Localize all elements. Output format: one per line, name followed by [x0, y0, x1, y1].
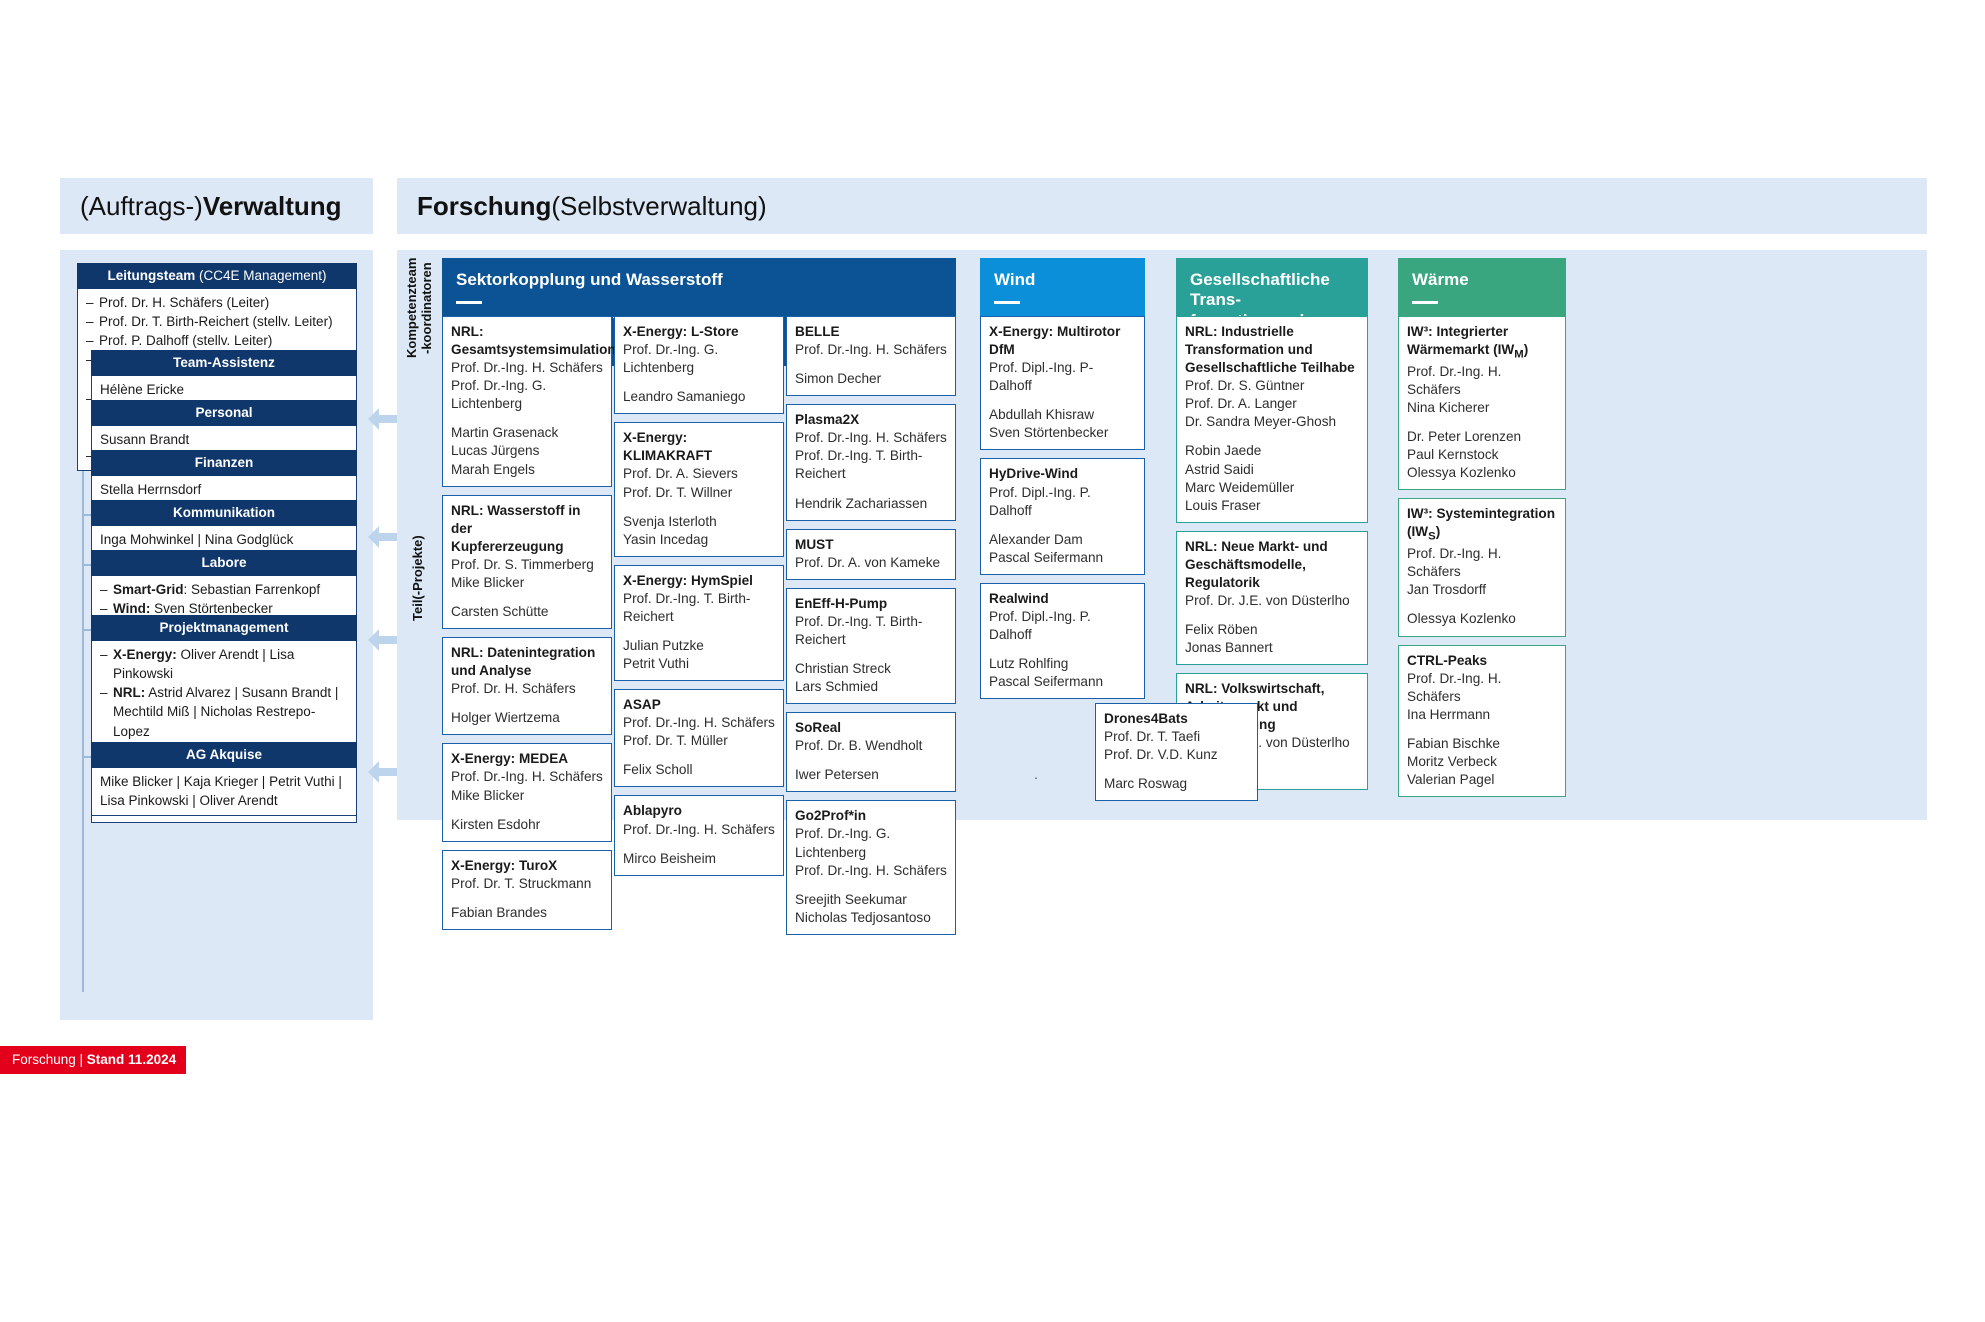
project-name: Drones4Bats [1104, 710, 1249, 728]
project-name: IW³: Integrierter [1407, 323, 1557, 341]
admin-unit-header: Projektmanagement [91, 615, 357, 641]
project-staff: Hendrik Zachariassen [795, 495, 947, 513]
project-box[interactable]: X-Energy: KLIMAKRAFTProf. Dr. A. Sievers… [614, 422, 784, 556]
admin-section-title: (Auftrags-)Verwaltung [60, 178, 373, 234]
project-column-waerme: IW³: IntegrierterWärmemarkt (IWM)Prof. D… [1398, 316, 1566, 805]
project-staff: Iwer Petersen [795, 766, 947, 784]
project-box[interactable]: NRL:GesamtsystemsimulationProf. Dr.-Ing.… [442, 316, 612, 487]
project-lead: Prof. Dr.-Ing. H. Schäfers [795, 429, 947, 447]
project-box[interactable]: X-Energy: MEDEAProf. Dr.-Ing. H. Schäfer… [442, 743, 612, 841]
project-name: Realwind [989, 590, 1136, 608]
project-name-line2: (IWS) [1407, 523, 1557, 545]
project-name: CTRL-Peaks [1407, 652, 1557, 670]
status-prefix: Forschung | [12, 1052, 87, 1067]
project-box[interactable]: Drones4BatsProf. Dr. T. TaefiProf. Dr. V… [1095, 703, 1258, 801]
project-lead: Prof. Dr. T. Struckmann [451, 875, 603, 893]
project-spacer [1185, 610, 1359, 621]
project-box[interactable]: Plasma2XProf. Dr.-Ing. H. SchäfersProf. … [786, 404, 956, 520]
project-staff: Louis Fraser [1185, 497, 1359, 515]
project-staff: Leandro Samaniego [623, 388, 775, 406]
project-spacer [989, 395, 1136, 406]
project-spacer [795, 755, 947, 766]
project-name: NRL: [451, 323, 603, 341]
admin-unit[interactable]: FinanzenStella Herrnsdorf [91, 450, 357, 505]
admin-title-bold: Verwaltung [203, 191, 342, 222]
project-staff: Fabian Brandes [451, 904, 603, 922]
admin-title-prefix: (Auftrags-) [80, 191, 203, 222]
project-staff: Valerian Pagel [1407, 771, 1557, 789]
status-badge: Forschung | Stand 11.2024 [0, 1046, 186, 1074]
project-staff: Astrid Saidi [1185, 461, 1359, 479]
label-kompetenzteam-koordinatoren: Kompetenzteam -koordinatoren [405, 258, 439, 358]
project-box[interactable]: IW³: IntegrierterWärmemarkt (IWM)Prof. D… [1398, 316, 1566, 490]
project-lead: Prof. Dr. B. Wendholt [795, 737, 947, 755]
project-lead: Prof. Dr. V.D. Kunz [1104, 746, 1249, 764]
project-name-line2: Gesamtsystemsimulation [451, 341, 603, 359]
project-lead: Prof. Dr.-Ing. H. Schäfers [623, 714, 775, 732]
project-name: Go2Prof*in [795, 807, 947, 825]
project-lead: Dr. Sandra Meyer-Ghosh [1185, 413, 1359, 431]
project-lead: Prof. Dr.-Ing. T. Birth- [795, 447, 947, 465]
project-name: X-Energy: MEDEA [451, 750, 603, 768]
admin-unit-line: Lisa Pinkowski | Oliver Arendt [100, 791, 348, 810]
project-name: BELLE [795, 323, 947, 341]
project-staff: Pascal Seifermann [989, 673, 1136, 691]
project-staff: Simon Decher [795, 370, 947, 388]
cluster-title: Wärme [1412, 270, 1552, 290]
admin-unit-header: Finanzen [91, 450, 357, 476]
project-spacer [1407, 599, 1557, 610]
project-staff: Lars Schmied [795, 678, 947, 696]
project-lead: Mike Blicker [451, 787, 603, 805]
project-box[interactable]: NRL: IndustrielleTransformation undGesel… [1176, 316, 1368, 523]
cluster-title: Wind [994, 270, 1131, 290]
project-lead: Jan Trosdorff [1407, 581, 1557, 599]
project-lead: Prof. Dr. A. von Kameke [795, 554, 947, 572]
project-staff: Sven Störtenbecker [989, 424, 1136, 442]
project-name-line2: Transformation und [1185, 341, 1359, 359]
project-column-2: X-Energy: L-StoreProf. Dr.-Ing. G. Licht… [614, 316, 784, 884]
project-staff: Dr. Peter Lorenzen [1407, 428, 1557, 446]
project-spacer [623, 502, 775, 513]
project-staff: Felix Röben [1185, 621, 1359, 639]
project-box[interactable]: X-Energy: Multirotor DfMProf. Dipl.-Ing.… [980, 316, 1145, 450]
project-column-drones: Drones4BatsProf. Dr. T. TaefiProf. Dr. V… [1095, 703, 1258, 809]
project-lead: Prof. Dr.-Ing. T. Birth- [623, 590, 775, 608]
project-lead: Prof. Dr.-Ing. H. Schäfers [451, 359, 603, 377]
project-box[interactable]: EnEff-H-PumpProf. Dr.-Ing. T. Birth-Reic… [786, 588, 956, 704]
project-box[interactable]: RealwindProf. Dipl.-Ing. P. DalhoffLutz … [980, 583, 1145, 699]
project-name: NRL: Wasserstoff in der [451, 502, 603, 538]
admin-unit[interactable]: Team-AssistenzHélène Ericke [91, 350, 357, 405]
project-name-line2: Geschäftsmodelle, Regulatorik [1185, 556, 1359, 592]
admin-unit[interactable]: PersonalSusann Brandt [91, 400, 357, 455]
project-name: SoReal [795, 719, 947, 737]
project-spacer [623, 377, 775, 388]
project-name-line2: Kupfererzeugung [451, 538, 603, 556]
project-spacer [795, 649, 947, 660]
project-box[interactable]: NRL: Datenintegrationund AnalyseProf. Dr… [442, 637, 612, 735]
project-lead: Nina Kicherer [1407, 399, 1557, 417]
project-spacer [623, 839, 775, 850]
admin-unit-line: Stella Herrnsdorf [100, 480, 348, 499]
admin-unit-header: Kommunikation [91, 500, 357, 526]
project-spacer [795, 359, 947, 370]
project-spacer [623, 626, 775, 637]
project-column-wind: X-Energy: Multirotor DfMProf. Dipl.-Ing.… [980, 316, 1145, 707]
project-name: HyDrive-Wind [989, 465, 1136, 483]
project-box[interactable]: ASAPProf. Dr.-Ing. H. SchäfersProf. Dr. … [614, 689, 784, 787]
project-box[interactable]: BELLEProf. Dr.-Ing. H. SchäfersSimon Dec… [786, 316, 956, 396]
project-staff: Lucas Jürgens [451, 442, 603, 460]
project-name-line3: Gesellschaftliche Teilhabe [1185, 359, 1359, 377]
project-lead: Prof. Dr. S. Güntner [1185, 377, 1359, 395]
project-name: X-Energy: KLIMAKRAFT [623, 429, 775, 465]
project-box[interactable]: Go2Prof*inProf. Dr.-Ing. G. LichtenbergP… [786, 800, 956, 934]
project-box[interactable]: SoRealProf. Dr. B. WendholtIwer Petersen [786, 712, 956, 792]
project-box[interactable]: NRL: Wasserstoff in derKupfererzeugungPr… [442, 495, 612, 629]
research-title-suffix: (Selbstverwaltung) [551, 191, 766, 222]
project-spacer [451, 698, 603, 709]
project-staff: Yasin Incedag [623, 531, 775, 549]
leadership-item: –Prof. Dr. H. Schäfers (Leiter) [86, 293, 348, 312]
project-staff: Paul Kernstock [1407, 446, 1557, 464]
leadership-item: –Prof. Dr. T. Birth-Reichert (stellv. Le… [86, 312, 348, 331]
project-box[interactable]: HyDrive-WindProf. Dipl.-Ing. P. DalhoffA… [980, 458, 1145, 574]
project-staff: Carsten Schütte [451, 603, 603, 621]
project-lead: Prof. Dr.-Ing. H. Schäfers [1407, 545, 1557, 581]
project-staff: Robin Jaede [1185, 442, 1359, 460]
project-staff: Alexander Dam [989, 531, 1136, 549]
project-spacer [989, 644, 1136, 655]
project-name: NRL: Datenintegration [451, 644, 603, 662]
project-spacer [795, 484, 947, 495]
project-lead: Prof. Dr. T. Müller [623, 732, 775, 750]
project-staff: Holger Wiertzema [451, 709, 603, 727]
cluster-rule [1412, 301, 1438, 304]
project-name-line2: und Analyse [451, 662, 603, 680]
project-lead: Prof. Dipl.-Ing. P- Dalhoff [989, 359, 1136, 395]
admin-unit-line: Mike Blicker | Kaja Krieger | Petrit Vut… [100, 772, 348, 791]
project-staff: Fabian Bischke [1407, 735, 1557, 753]
project-name: NRL: Volkswirtschaft, [1185, 680, 1359, 698]
project-spacer [1407, 417, 1557, 428]
admin-unit[interactable]: AG AkquiseMike Blicker | Kaja Krieger | … [91, 742, 357, 816]
project-lead: Prof. Dr.-Ing. H. Schäfers [795, 862, 947, 880]
project-staff: Mirco Beisheim [623, 850, 775, 868]
project-staff: Nicholas Tedjosantoso [795, 909, 947, 927]
admin-unit-header: Personal [91, 400, 357, 426]
project-name: Ablapyro [623, 802, 775, 820]
project-spacer [451, 805, 603, 816]
admin-unit-body: Mike Blicker | Kaja Krieger | Petrit Vut… [91, 768, 357, 816]
project-spacer [451, 592, 603, 603]
admin-unit[interactable]: KommunikationInga Mohwinkel | Nina Godgl… [91, 500, 357, 555]
project-name: MUST [795, 536, 947, 554]
admin-unit-line: Hélène Ericke [100, 380, 348, 399]
project-spacer [795, 880, 947, 891]
project-lead: Prof. Dr.-Ing. H. Schäfers [1407, 363, 1557, 399]
admin-unit-bullet: –NRL: Astrid Alvarez | Susann Brandt | [100, 683, 348, 702]
project-name: X-Energy: L-Store [623, 323, 775, 341]
project-name: NRL: Industrielle [1185, 323, 1359, 341]
project-lead: Prof. Dr. A. Sievers [623, 465, 775, 483]
project-lead: Prof. Dr.-Ing. H. Schäfers [623, 821, 775, 839]
project-staff: Abdullah Khisraw [989, 406, 1136, 424]
research-title-bold: Forschung [417, 191, 551, 222]
label-teil-projekte: Teil(-Projekte) [411, 518, 431, 638]
project-box[interactable]: NRL: Neue Markt- undGeschäftsmodelle, Re… [1176, 531, 1368, 665]
admin-unit-header: Team-Assistenz [91, 350, 357, 376]
admin-unit-bullet: –Smart-Grid: Sebastian Farrenkopf [100, 580, 348, 599]
admin-unit-header: Labore [91, 550, 357, 576]
project-box[interactable]: X-Energy: HymSpielProf. Dr.-Ing. T. Birt… [614, 565, 784, 681]
project-lead: Mike Blicker [451, 574, 603, 592]
project-staff: Pascal Seifermann [989, 549, 1136, 567]
research-panel: Kompetenzteam -koordinatoren Teil(-Proje… [397, 250, 1927, 820]
project-lead: Prof. Dr. T. Willner [623, 484, 775, 502]
project-spacer [623, 750, 775, 761]
project-spacer [1104, 764, 1249, 775]
project-lead: Prof. Dr.-Ing. H. Schäfers [451, 768, 603, 786]
admin-unit-line: Susann Brandt [100, 430, 348, 449]
research-section-title: Forschung (Selbstverwaltung) [397, 178, 1927, 234]
project-staff: Olessya Kozlenko [1407, 610, 1557, 628]
project-name: EnEff-H-Pump [795, 595, 947, 613]
project-lead: Prof. Dr.-Ing. T. Birth- [795, 613, 947, 631]
project-staff: Petrit Vuthi [623, 655, 775, 673]
project-spacer [1407, 724, 1557, 735]
project-spacer [1185, 431, 1359, 442]
project-lead: Prof. Dr.-Ing. G. Lichtenberg [623, 341, 775, 377]
project-lead: Reichert [795, 631, 947, 649]
project-lead: Prof. Dr. J.E. von Düsterlho [1185, 592, 1359, 610]
project-spacer [451, 893, 603, 904]
project-staff: Svenja Isterloth [623, 513, 775, 531]
project-lead: Ina Herrmann [1407, 706, 1557, 724]
project-lead: Prof. Dr.-Ing. H. Schäfers [1407, 670, 1557, 706]
project-column-1: NRL:GesamtsystemsimulationProf. Dr.-Ing.… [442, 316, 612, 938]
project-box[interactable]: CTRL-PeaksProf. Dr.-Ing. H. SchäfersIna … [1398, 645, 1566, 798]
project-lead: Prof. Dipl.-Ing. P. Dalhoff [989, 484, 1136, 520]
project-box[interactable]: X-Energy: L-StoreProf. Dr.-Ing. G. Licht… [614, 316, 784, 414]
project-lead: Prof. Dr. H. Schäfers [451, 680, 603, 698]
project-staff: Julian Putzke [623, 637, 775, 655]
project-name-line2: Wärmemarkt (IWM) [1407, 341, 1557, 363]
project-name: X-Energy: TuroX [451, 857, 603, 875]
project-lead: Reichert [623, 608, 775, 626]
admin-unit-bullet: Mechtild Miß | Nicholas Restrepo-Lopez [100, 702, 348, 740]
project-staff: Sreejith Seekumar [795, 891, 947, 909]
status-date: Stand 11.2024 [87, 1052, 176, 1067]
project-box[interactable]: MUSTProf. Dr. A. von Kameke [786, 529, 956, 580]
project-lead: Prof. Dr.-Ing. G. Lichtenberg [795, 825, 947, 861]
project-staff: Moritz Verbeck [1407, 753, 1557, 771]
project-lead: Prof. Dr.-Ing. G. Lichtenberg [451, 377, 603, 413]
cluster-rule [994, 301, 1020, 304]
cluster-rule [456, 301, 482, 304]
project-name: IW³: Systemintegration [1407, 505, 1557, 523]
project-column-3: BELLEProf. Dr.-Ing. H. SchäfersSimon Dec… [786, 316, 956, 943]
admin-unit-header: AG Akquise [91, 742, 357, 768]
admin-unit-bullet: –X-Energy: Oliver Arendt | Lisa Pinkowsk… [100, 645, 348, 683]
project-lead: Prof. Dr. S. Timmerberg [451, 556, 603, 574]
leadership-item: –Prof. P. Dalhoff (stellv. Leiter) [86, 331, 348, 350]
project-staff: Felix Scholl [623, 761, 775, 779]
project-staff: Marc Weidemüller [1185, 479, 1359, 497]
project-spacer [451, 413, 603, 424]
project-name: X-Energy: Multirotor DfM [989, 323, 1136, 359]
project-staff: Christian Streck [795, 660, 947, 678]
project-box[interactable]: X-Energy: TuroXProf. Dr. T. StruckmannFa… [442, 850, 612, 930]
leadership-box-header: Leitungsteam (CC4E Management) [77, 263, 357, 289]
project-staff: Marc Roswag [1104, 775, 1249, 793]
project-staff: Olessya Kozlenko [1407, 464, 1557, 482]
project-staff: Lutz Rohlfing [989, 655, 1136, 673]
project-staff: Marah Engels [451, 461, 603, 479]
admin-unit[interactable]: Labore–Smart-Grid: Sebastian Farrenkopf–… [91, 550, 357, 624]
project-lead: Prof. Dr. A. Langer [1185, 395, 1359, 413]
project-box[interactable]: AblapyroProf. Dr.-Ing. H. SchäfersMirco … [614, 795, 784, 875]
project-name: Plasma2X [795, 411, 947, 429]
project-staff: Kirsten Esdohr [451, 816, 603, 834]
project-lead: Prof. Dr.-Ing. H. Schäfers [795, 341, 947, 359]
project-staff: Jonas Bannert [1185, 639, 1359, 657]
project-box[interactable]: IW³: Systemintegration(IWS)Prof. Dr.-Ing… [1398, 498, 1566, 636]
cluster-title: Sektorkopplung und Wasserstoff [456, 270, 942, 290]
project-lead: Prof. Dipl.-Ing. P. Dalhoff [989, 608, 1136, 644]
stray-dot: . [1034, 766, 1038, 782]
project-staff: Martin Grasenack [451, 424, 603, 442]
project-lead: Reichert [795, 465, 947, 483]
project-lead: Prof. Dr. T. Taefi [1104, 728, 1249, 746]
admin-unit-line: Inga Mohwinkel | Nina Godglück [100, 530, 348, 549]
project-name: X-Energy: HymSpiel [623, 572, 775, 590]
project-spacer [989, 520, 1136, 531]
admin-panel: Leitungsteam (CC4E Management)–Prof. Dr.… [60, 250, 373, 1020]
project-name: ASAP [623, 696, 775, 714]
project-name: NRL: Neue Markt- und [1185, 538, 1359, 556]
